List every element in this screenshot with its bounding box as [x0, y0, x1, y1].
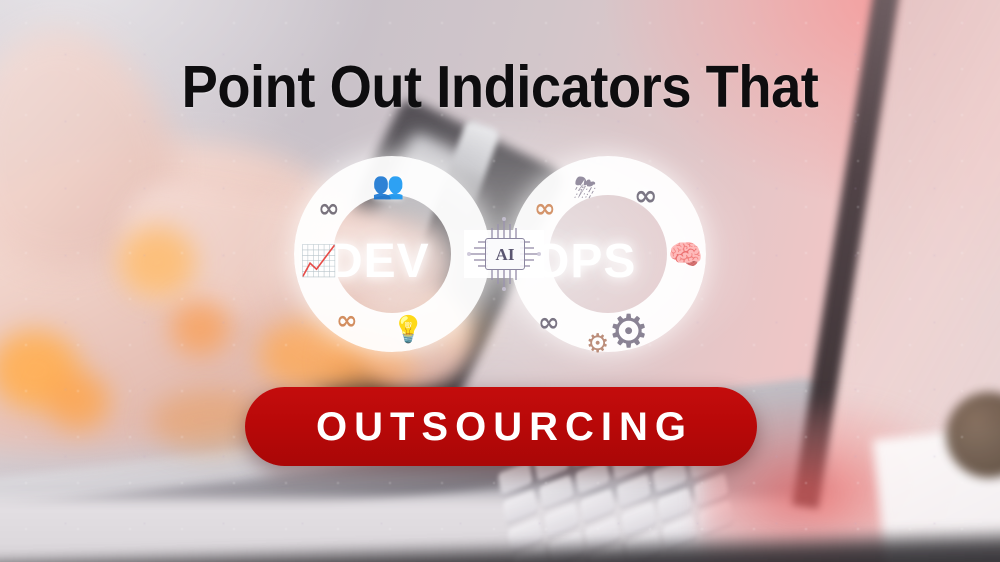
brain-head-icon: 🧠 [668, 238, 703, 271]
bar-chart-growth-icon: 📈 [300, 244, 337, 279]
gear-small-icon: ⚙ [586, 328, 609, 359]
outsourcing-badge[interactable]: OUTSOURCING [245, 387, 757, 466]
infinity-icon-1: ∞ [318, 196, 340, 222]
ai-chip-label: AI [485, 238, 525, 270]
infinity-icon-5: ∞ [538, 310, 560, 336]
dev-label: DEV [328, 238, 430, 286]
gear-large-icon: ⚙ [608, 304, 649, 358]
cloud-rain-icon: ⛈ [574, 172, 596, 205]
ops-label: OPS [532, 238, 636, 286]
people-icon: 👥 [372, 170, 404, 201]
infinity-icon-2: ∞ [336, 308, 358, 334]
infinity-icon-3: ∞ [534, 196, 556, 222]
page-title: Point Out Indicators That [40, 58, 960, 117]
infinity-icon-4: ∞ [634, 182, 657, 210]
ai-chip-icon: AI [462, 212, 546, 296]
banner-image: Point Out Indicators That DEV OPS [0, 0, 1000, 562]
outsourcing-label: OUTSOURCING [309, 407, 693, 447]
lightbulb-icon: 💡 [392, 314, 424, 345]
